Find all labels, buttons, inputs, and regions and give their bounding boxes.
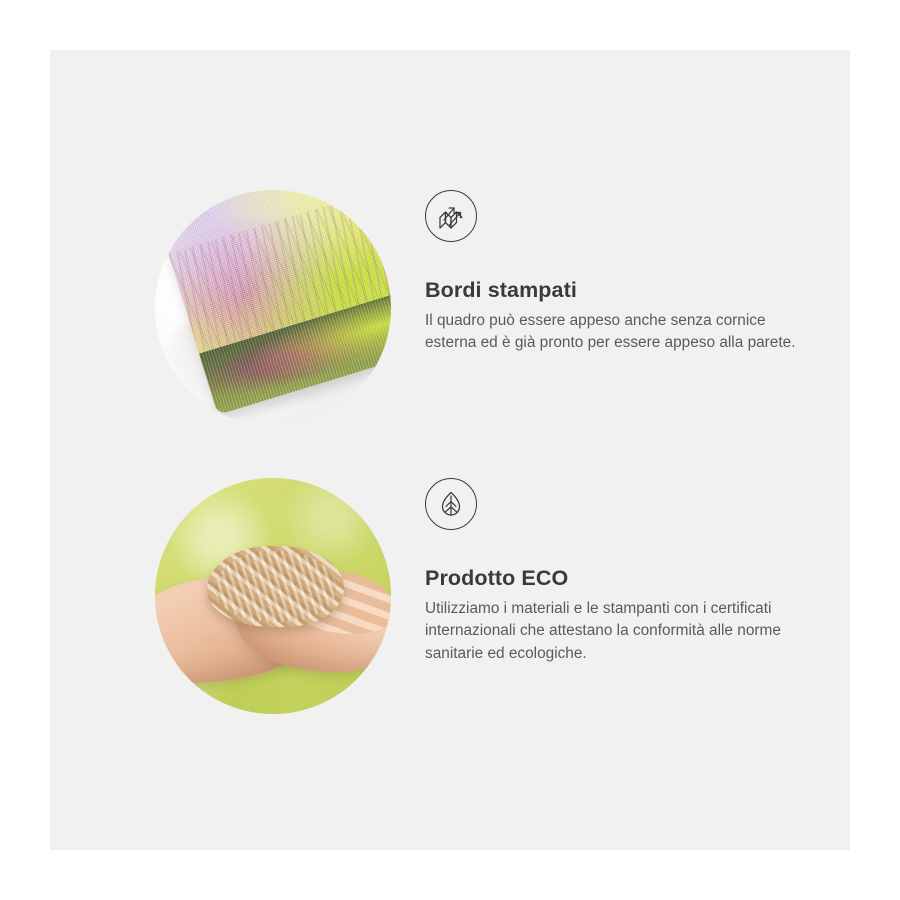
printed-edges-icon xyxy=(425,190,477,242)
feature-body-printed-edges: Il quadro può essere appeso anche senza … xyxy=(425,303,797,355)
eco-product-text-column: Prodotto ECO Utilizziamo i materiali e l… xyxy=(425,478,820,665)
feature-title-printed-edges: Bordi stampati xyxy=(425,242,820,303)
printed-edges-glyph xyxy=(436,201,466,231)
feature-title-eco-product: Prodotto ECO xyxy=(425,530,820,591)
leaf-glyph xyxy=(436,489,466,519)
canvas-corner-photo xyxy=(155,190,391,426)
feature-body-eco-product: Utilizziamo i materiali e le stampanti c… xyxy=(425,591,797,665)
wood-chips-pile xyxy=(207,546,344,626)
printed-edges-text-column: Bordi stampati Il quadro può essere appe… xyxy=(425,190,820,355)
content-panel: Bordi stampati Il quadro può essere appe… xyxy=(50,50,850,850)
leaf-icon xyxy=(425,478,477,530)
product-feature-page: Bordi stampati Il quadro può essere appe… xyxy=(0,0,900,900)
wood-chips-photo-circle xyxy=(155,478,391,714)
canvas-corner-photo-circle xyxy=(155,190,391,426)
wood-chips-hands-photo xyxy=(155,478,391,714)
